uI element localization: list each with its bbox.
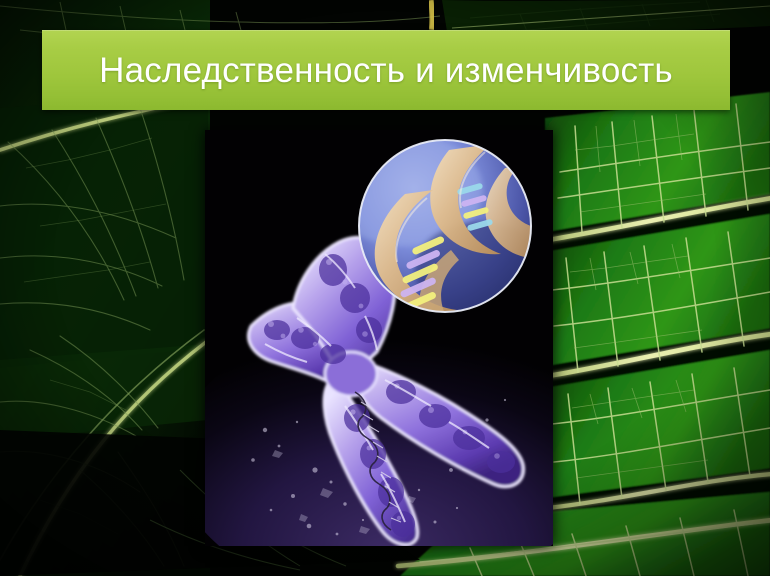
page-title: Наследственность и изменчивость	[99, 53, 673, 88]
presentation-slide: Наследственность и изменчивость	[0, 0, 770, 576]
title-banner: Наследственность и изменчивость	[42, 30, 730, 110]
chromosome-photo	[205, 130, 553, 546]
